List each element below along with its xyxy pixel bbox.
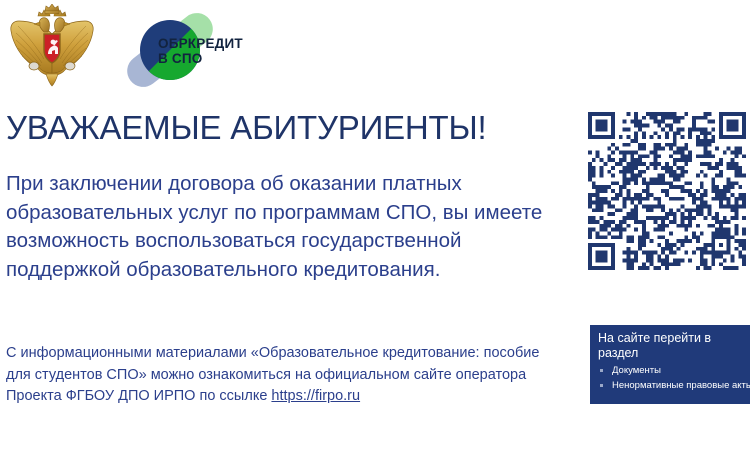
callout-list-item[interactable]: Ненормативные правовые акты: [598, 378, 744, 393]
page-title: УВАЖАЕМЫЕ АБИТУРИЕНТЫ!: [6, 109, 486, 147]
callout-list-item-label: Документы: [612, 365, 661, 376]
footnote-paragraph: С информационными материалами «Образоват…: [6, 343, 566, 408]
header: ОБРКРЕДИТ В СПО: [0, 0, 560, 100]
callout-list-item[interactable]: Документы: [598, 363, 744, 378]
lead-paragraph: При заключении договора об оказании плат…: [6, 170, 551, 284]
callout-title: На сайте перейти в раздел: [598, 331, 744, 361]
brand-wordmark-line2: В СПО: [158, 51, 243, 66]
callout-list-item-label: Ненормативные правовые акты: [612, 380, 750, 391]
firpo-website-link[interactable]: https://firpo.ru: [271, 388, 360, 404]
brand-wordmark: ОБРКРЕДИТ В СПО: [158, 36, 243, 66]
russian-coat-of-arms-emblem-icon: [8, 4, 96, 92]
brand-wordmark-line1: ОБРКРЕДИТ: [158, 36, 243, 51]
bullet-icon: [600, 369, 603, 372]
qr-code[interactable]: [588, 112, 746, 270]
callout-box: На сайте перейти в раздел Документы Нено…: [590, 325, 750, 404]
banner-page: ОБРКРЕДИТ В СПО УВАЖАЕМЫЕ АБИТУРИЕНТЫ! П…: [0, 0, 750, 450]
callout-list: Документы Ненормативные правовые акты: [598, 363, 744, 393]
bullet-icon: [600, 384, 603, 387]
